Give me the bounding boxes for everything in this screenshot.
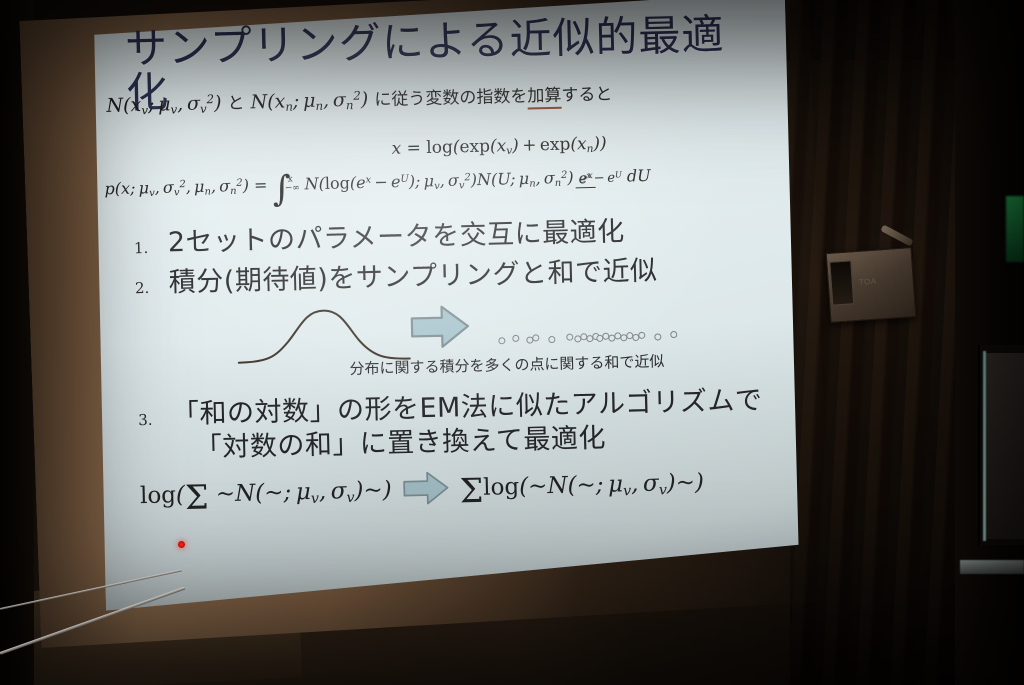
right-wall xyxy=(955,0,1024,685)
list-number-2: 2. xyxy=(135,279,150,297)
intro-dist-v: N(xv; μv, σv2) xyxy=(106,92,222,117)
list-number-1: 1. xyxy=(134,239,149,257)
intro-tail-underlined: 加算 xyxy=(527,86,562,110)
transform-arrow-1 xyxy=(408,303,471,355)
projection-screen: サンプリングによる近似的最適化 N(xv; μv, σv2) と N(xn; μ… xyxy=(19,0,851,658)
speaker-brand-label: TOA xyxy=(858,277,876,287)
sample-dot xyxy=(566,334,573,341)
sample-dot xyxy=(670,331,677,338)
monitor-panel xyxy=(984,353,1024,539)
list-item-3-line2-text: 「対数の和」に置き換えて最適化 xyxy=(195,423,607,464)
transform-arrow-2 xyxy=(401,470,450,512)
sample-dot xyxy=(498,337,505,344)
intro-tail: に従う変数の指数を xyxy=(374,87,527,111)
list-item-1-text: 2セットのパラメータを交互に最適化 xyxy=(167,216,624,258)
slide-content: サンプリングによる近似的最適化 N(xv; μv, σv2) と N(xn; μ… xyxy=(85,0,805,611)
list-item-3: 「和の対数」の形をEM法に似たアルゴリズムで xyxy=(172,386,763,431)
monitor-base-highlight xyxy=(960,560,1024,574)
laser-dot xyxy=(178,541,185,548)
right-arrow-icon xyxy=(408,303,471,351)
monitor-edge-highlight xyxy=(983,351,986,541)
list-item-2-text: 積分(期待値)をサンプリングと和で近似 xyxy=(168,255,657,298)
list-number-3: 3. xyxy=(138,411,153,429)
intro-dist-n: N(xn; μn, σn2) xyxy=(250,88,368,113)
formula-log-of-sum: log(Σ ~N(~; μv, σv)~) xyxy=(140,476,392,512)
sample-dot xyxy=(654,333,661,340)
fraction: exex − eU xyxy=(575,169,625,187)
intro-conjunction: と xyxy=(227,93,244,113)
formula-sum-of-log: Σlog(~N(~; μv, σv)~) xyxy=(459,469,704,505)
list-item-3-line2: 「対数の和」に置き換えて最適化 xyxy=(195,424,607,464)
sample-dot xyxy=(532,334,539,341)
integral-limits: x−∞ xyxy=(285,175,300,194)
intro-tail-end: すると xyxy=(561,84,612,105)
equation-x: x = log(exp(xv) + exp(xn)) xyxy=(391,134,607,160)
right-arrow-icon xyxy=(401,470,450,507)
list-item-3-text: 「和の対数」の形をEM法に似たアルゴリズムで xyxy=(172,385,763,430)
green-indicator-light xyxy=(1006,196,1024,262)
bottom-formula-row: log(Σ ~N(~; μv, σv)~) Σlog(~N(~; μv, σv)… xyxy=(140,462,781,519)
list-item-2: 積分(期待値)をサンプリングと和で近似 xyxy=(168,256,657,298)
sample-dot xyxy=(548,336,555,343)
photo-scene: TOA サンプリングによる近似的最適化 N(xv; μv, σv2) と N(x… xyxy=(0,0,1024,685)
sample-dot xyxy=(638,332,645,339)
sample-dots xyxy=(496,330,676,346)
equation-density: p(x; μv, σv2, μn, σn2) = ∫x−∞ N(log(ex −… xyxy=(104,163,794,202)
list-item-1: 2セットのパラメータを交互に最適化 xyxy=(168,217,625,258)
side-monitor xyxy=(978,345,1024,545)
sample-dot xyxy=(512,335,519,342)
